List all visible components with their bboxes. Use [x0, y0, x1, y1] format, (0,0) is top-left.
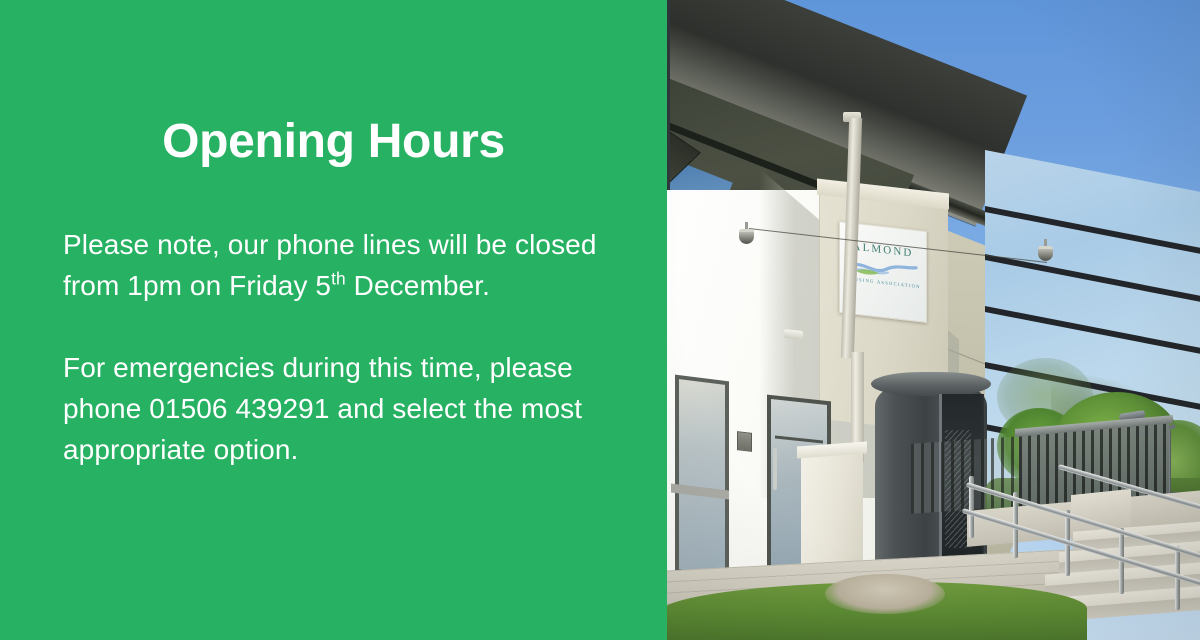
date-ordinal-suffix: th — [331, 269, 346, 289]
page-title: Opening Hours — [0, 117, 667, 167]
notice-body: Please note, our phone lines will be clo… — [63, 224, 643, 470]
metal-fence — [911, 436, 1023, 514]
door-handle — [773, 448, 777, 490]
notice-panel: Opening Hours Please note, our phone lin… — [0, 0, 667, 640]
closure-text-tail: December. — [346, 270, 490, 301]
notice-paragraph-emergency: For emergencies during this time, please… — [63, 347, 643, 470]
closure-text-lead: Please note, our phone lines will be clo… — [63, 229, 597, 301]
bare-soil-patch — [825, 574, 945, 614]
office-window — [675, 375, 729, 580]
office-building-photo: ALMOND HOUSING ASSOCIATION — [667, 0, 1200, 640]
wall-mounted-box — [737, 431, 752, 452]
notice-paragraph-closure: Please note, our phone lines will be clo… — [63, 224, 643, 306]
revolving-door-cap — [871, 372, 991, 396]
exterior-light-fitting — [784, 329, 803, 340]
opening-hours-banner: Opening Hours Please note, our phone lin… — [0, 0, 1200, 640]
